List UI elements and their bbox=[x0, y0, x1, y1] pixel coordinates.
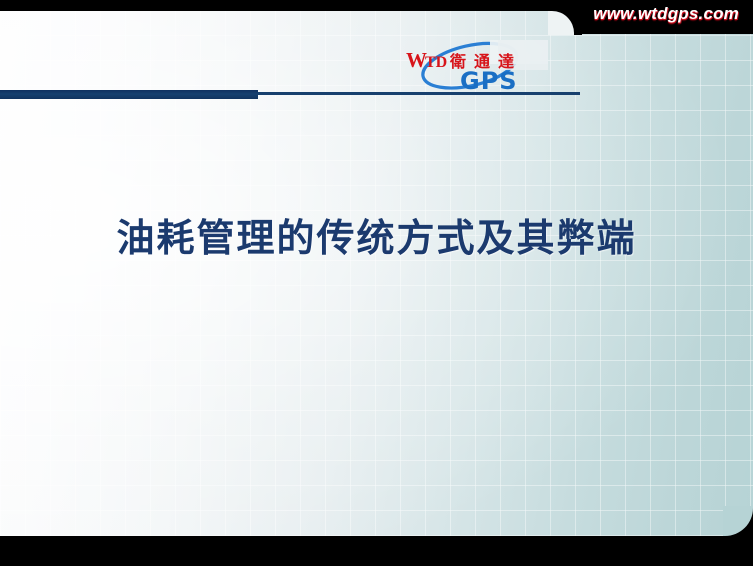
logo-brand-sub: GPS bbox=[460, 67, 518, 92]
slide-title: 油耗管理的传统方式及其弊端 bbox=[0, 216, 753, 264]
svg-text:TD: TD bbox=[425, 54, 447, 71]
website-url-label[interactable]: www.wtdgps.com bbox=[593, 4, 739, 24]
header-rule-thick bbox=[0, 90, 258, 99]
header-rule-thin bbox=[258, 92, 580, 95]
presentation-slide: W TD 衛 通 達 GPS 油耗管理的传统方式及其弊端 www.wtdgps.… bbox=[0, 0, 753, 566]
bezel-bottom bbox=[0, 536, 753, 566]
panel-highlight-overlay bbox=[0, 10, 753, 536]
slide-content-panel bbox=[0, 10, 753, 536]
wtd-gps-logo: W TD 衛 通 達 GPS bbox=[398, 40, 548, 92]
logo-brand-latin: W bbox=[406, 48, 427, 72]
grid-texture-overlay bbox=[0, 10, 753, 536]
